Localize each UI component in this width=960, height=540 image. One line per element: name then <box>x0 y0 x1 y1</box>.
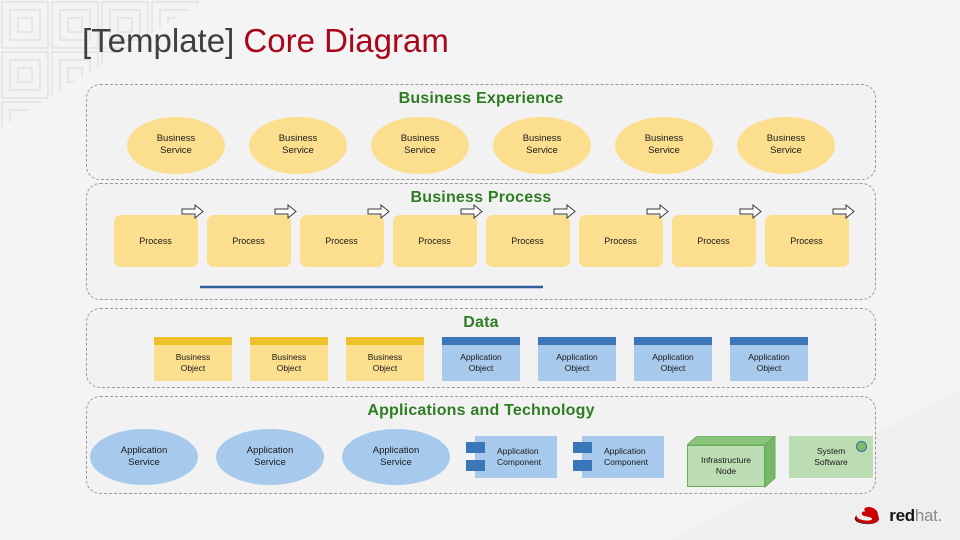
process-node[interactable]: Process <box>765 215 849 267</box>
node-label: BusinessObject <box>368 352 403 373</box>
component-tab-icon <box>466 460 485 471</box>
layer-data: Data BusinessObject BusinessObject Busin… <box>86 308 876 388</box>
node-label: Process <box>697 236 730 246</box>
process-node[interactable]: Process <box>486 215 570 267</box>
business-service-node[interactable]: BusinessService <box>493 117 591 174</box>
node-label: BusinessObject <box>272 352 307 373</box>
business-object-node[interactable]: BusinessObject <box>154 337 232 381</box>
arrow-right-icon <box>274 204 297 224</box>
business-service-node[interactable]: BusinessService <box>737 117 835 174</box>
process-node[interactable]: Process <box>393 215 477 267</box>
business-service-node[interactable]: BusinessService <box>371 117 469 174</box>
redhat-logo: redhat. <box>854 504 942 528</box>
application-component-node[interactable]: ApplicationComponent <box>582 436 664 478</box>
node-label: BusinessService <box>523 133 562 157</box>
process-node[interactable]: Process <box>579 215 663 267</box>
object-header-bar <box>538 337 616 345</box>
node-label: Process <box>511 236 544 246</box>
business-service-node[interactable]: BusinessService <box>127 117 225 174</box>
business-object-node[interactable]: BusinessObject <box>250 337 328 381</box>
process-node[interactable]: Process <box>672 215 756 267</box>
object-header-bar <box>154 337 232 345</box>
node-label: SystemSoftware <box>814 446 848 467</box>
application-object-node[interactable]: ApplicationObject <box>442 337 520 381</box>
component-tab-icon <box>466 442 485 453</box>
process-node[interactable]: Process <box>207 215 291 267</box>
process-flow-arrow <box>200 278 545 296</box>
application-object-node[interactable]: ApplicationObject <box>634 337 712 381</box>
process-node[interactable]: Process <box>114 215 198 267</box>
object-header-bar <box>346 337 424 345</box>
system-software-node[interactable]: SystemSoftware <box>789 436 873 478</box>
node-label: Process <box>418 236 451 246</box>
arrow-right-icon <box>832 204 855 224</box>
application-component-node[interactable]: ApplicationComponent <box>475 436 557 478</box>
title-main: Core Diagram <box>243 22 448 59</box>
process-node[interactable]: Process <box>300 215 384 267</box>
infrastructure-node[interactable]: InfrastructureNode <box>687 436 765 478</box>
node-label: Process <box>604 236 637 246</box>
application-object-node[interactable]: ApplicationObject <box>730 337 808 381</box>
node-label: BusinessService <box>645 133 684 157</box>
node-3d-edges <box>687 436 777 490</box>
node-label: Process <box>790 236 823 246</box>
node-label: BusinessObject <box>176 352 211 373</box>
node-label: BusinessService <box>401 133 440 157</box>
node-label: ApplicationService <box>121 445 167 469</box>
layer-business-process-items: Process Process Process Process <box>87 213 875 269</box>
component-tab-icon <box>573 460 592 471</box>
arrow-right-icon <box>181 204 204 224</box>
component-tab-icon <box>573 442 592 453</box>
node-label: ApplicationObject <box>652 352 694 373</box>
node-label: BusinessService <box>279 133 318 157</box>
layer-data-items: BusinessObject BusinessObject BusinessOb… <box>87 335 875 383</box>
layer-applications-and-technology: Applications and Technology ApplicationS… <box>86 396 876 494</box>
business-object-node[interactable]: BusinessObject <box>346 337 424 381</box>
page-title: [Template] Core Diagram <box>82 22 449 60</box>
brand-red: red <box>889 506 915 525</box>
arrow-right-icon <box>646 204 669 224</box>
arrow-right-icon <box>553 204 576 224</box>
arrow-right-icon <box>367 204 390 224</box>
layer-applications-and-technology-title: Applications and Technology <box>87 402 875 420</box>
node-label: Process <box>232 236 265 246</box>
node-label: BusinessService <box>767 133 806 157</box>
arrow-right-icon <box>739 204 762 224</box>
application-service-node[interactable]: ApplicationService <box>342 429 450 485</box>
node-label: Process <box>325 236 358 246</box>
redhat-fedora-icon <box>854 504 884 528</box>
node-label: Process <box>139 236 172 246</box>
object-header-bar <box>634 337 712 345</box>
object-header-bar <box>442 337 520 345</box>
application-object-node[interactable]: ApplicationObject <box>538 337 616 381</box>
node-label: ApplicationService <box>373 445 419 469</box>
layer-business-experience-title: Business Experience <box>87 90 875 108</box>
layer-business-experience-items: BusinessService BusinessService Business… <box>87 115 875 175</box>
brand-hat: hat. <box>915 506 942 525</box>
arrow-right-icon <box>460 204 483 224</box>
node-label: ApplicationObject <box>460 352 502 373</box>
node-label: ApplicationObject <box>556 352 598 373</box>
node-label: ApplicationService <box>247 445 293 469</box>
object-header-bar <box>730 337 808 345</box>
node-label: ApplicationObject <box>748 352 790 373</box>
application-service-node[interactable]: ApplicationService <box>90 429 198 485</box>
node-label: BusinessService <box>157 133 196 157</box>
slide-canvas: [Template] Core Diagram Business Experie… <box>0 0 960 540</box>
circle-icon <box>856 441 867 452</box>
object-header-bar <box>250 337 328 345</box>
layer-data-title: Data <box>87 314 875 332</box>
business-service-node[interactable]: BusinessService <box>249 117 347 174</box>
redhat-wordmark: redhat. <box>889 506 942 526</box>
business-service-node[interactable]: BusinessService <box>615 117 713 174</box>
title-prefix: [Template] <box>82 22 234 59</box>
layer-business-experience: Business Experience BusinessService Busi… <box>86 84 876 180</box>
application-service-node[interactable]: ApplicationService <box>216 429 324 485</box>
layer-applications-and-technology-items: ApplicationService ApplicationService Ap… <box>87 426 875 488</box>
